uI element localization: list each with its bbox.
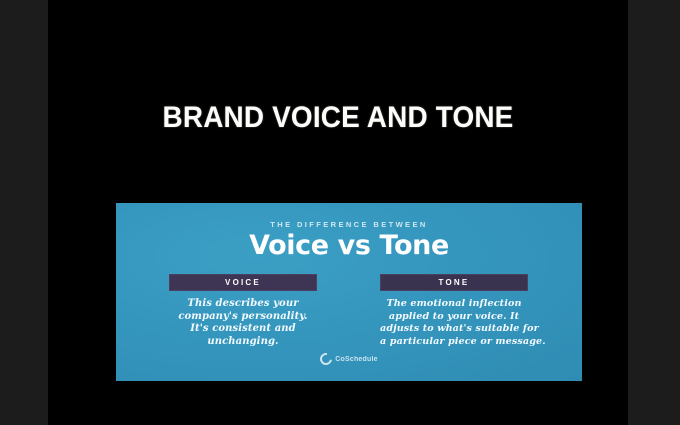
video-player-screen: BRAND VOICE AND TONE THE DIFFERENCE BETW… (0, 0, 680, 425)
infographic-kicker: THE DIFFERENCE BETWEEN (116, 220, 582, 229)
video-stage[interactable]: BRAND VOICE AND TONE THE DIFFERENCE BETW… (48, 0, 628, 425)
voice-line-3: It's consistent and (169, 323, 317, 336)
infographic-heading: Voice vs Tone (116, 230, 582, 262)
tone-line-2: applied to your voice. It (380, 311, 528, 324)
badge-voice: VOICE (169, 274, 317, 291)
tone-description: The emotional inflection applied to your… (380, 298, 528, 348)
tone-line-3: adjusts to what's suitable for (380, 323, 528, 336)
voice-description: This describes your company's personalit… (169, 298, 317, 348)
tone-line-1: The emotional inflection (380, 298, 528, 311)
infographic-card: THE DIFFERENCE BETWEEN Voice vs Tone VOI… (116, 203, 582, 381)
voice-line-4: unchanging. (169, 336, 317, 349)
column-voice: VOICE This describes your company's pers… (169, 274, 317, 348)
tone-line-4: a particular piece or message. (380, 336, 528, 349)
badge-tone: TONE (380, 274, 528, 291)
voice-line-2: company's personality. (169, 311, 317, 324)
page-title: BRAND VOICE AND TONE (68, 101, 607, 135)
coschedule-logo-icon (318, 351, 335, 368)
column-tone: TONE The emotional inflection applied to… (380, 274, 528, 348)
brand-lockup: CoSchedule (116, 353, 582, 365)
voice-line-1: This describes your (169, 298, 317, 311)
brand-name: CoSchedule (335, 356, 377, 363)
